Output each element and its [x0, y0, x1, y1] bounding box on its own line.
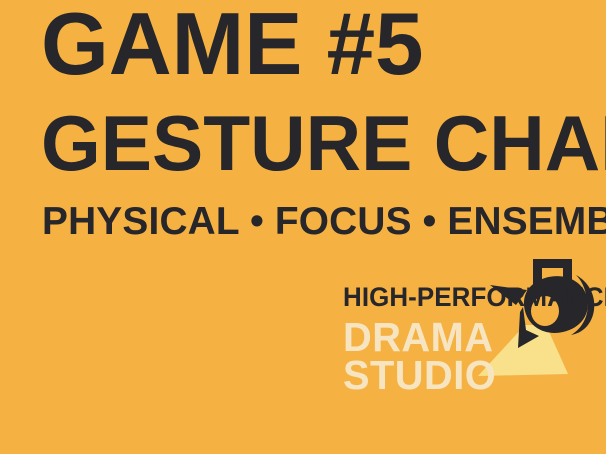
game-tags-line: PHYSICAL • FOCUS • ENSEMBLE: [42, 202, 606, 241]
game-number-heading: GAME #5: [41, 0, 423, 88]
logo-studio-text: STUDIO: [343, 355, 496, 396]
poster-canvas: GAME #5 GESTURE CHAIN PHYSICAL • FOCUS •…: [0, 0, 606, 454]
game-title-heading: GESTURE CHAIN: [41, 104, 606, 182]
logo-high-performance-text: HIGH-PERFORMANCE: [343, 284, 606, 311]
studio-logo-lockup: HIGH-PERFORMANCE DRAMA STUDIO: [340, 252, 606, 402]
